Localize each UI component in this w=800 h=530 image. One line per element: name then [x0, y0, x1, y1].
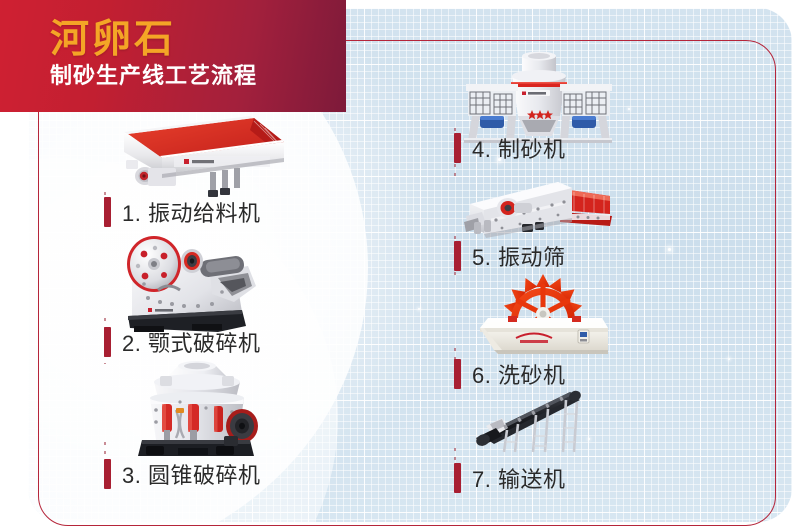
sparkle-icon	[628, 108, 630, 110]
sparkle-icon	[668, 248, 671, 251]
infographic-root: 1. 振动给料机	[0, 0, 800, 530]
step-accent-bar	[454, 133, 461, 163]
machine-image-vibrating-screen	[460, 170, 620, 242]
step-label: 7. 输送机	[472, 462, 565, 494]
sparkle-icon	[418, 308, 420, 310]
machine-image-sand-washer	[478, 272, 612, 356]
machine-image-cone-crusher	[120, 358, 270, 464]
machine-image-jaw-crusher	[114, 228, 274, 340]
step-2-jaw-crusher[interactable]: 2. 颚式破碎机	[104, 326, 260, 358]
step-accent-bar	[454, 359, 461, 389]
step-label: 5. 振动筛	[472, 240, 565, 272]
sparkle-icon	[728, 358, 730, 360]
step-label: 6. 洗砂机	[472, 358, 565, 390]
step-4-sand-making-machine[interactable]: 4. 制砂机	[454, 132, 565, 164]
step-accent-bar	[454, 463, 461, 493]
machine-image-belt-conveyor	[474, 388, 604, 454]
machine-image-vibrating-feeder	[104, 112, 294, 200]
step-label: 4. 制砂机	[472, 132, 565, 164]
step-1-vibrating-feeder[interactable]: 1. 振动给料机	[104, 196, 260, 228]
step-5-vibrating-screen[interactable]: 5. 振动筛	[454, 240, 565, 272]
banner-title: 河卵石	[50, 8, 176, 64]
step-label: 3. 圆锥破碎机	[122, 458, 260, 490]
sparkle-icon	[278, 418, 281, 421]
step-3-cone-crusher[interactable]: 3. 圆锥破碎机	[104, 458, 260, 490]
step-accent-bar	[104, 327, 111, 357]
step-label: 2. 颚式破碎机	[122, 326, 260, 358]
step-accent-bar	[104, 197, 111, 227]
step-accent-bar	[454, 241, 461, 271]
step-7-belt-conveyor[interactable]: 7. 输送机	[454, 462, 565, 494]
step-accent-bar	[104, 459, 111, 489]
step-label: 1. 振动给料机	[122, 196, 260, 228]
step-6-sand-washer[interactable]: 6. 洗砂机	[454, 358, 565, 390]
title-banner: 河卵石 制砂生产线工艺流程	[0, 0, 346, 112]
banner-subtitle: 制砂生产线工艺流程	[50, 58, 257, 90]
